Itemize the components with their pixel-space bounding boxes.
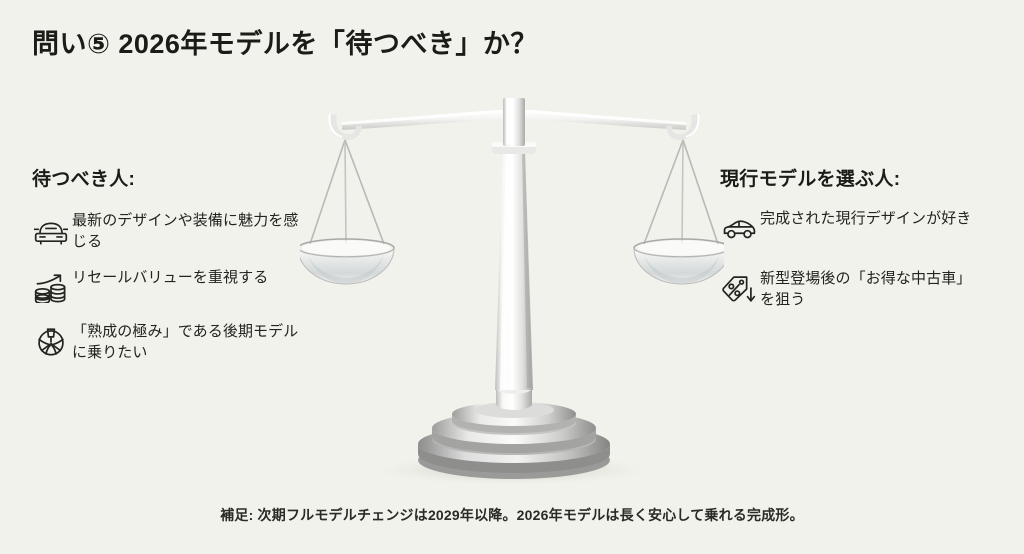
right-column-heading: 現行モデルを選ぶ人:: [720, 164, 1018, 191]
list-item-label: 新型登場後の「お得な中古車」を狙う: [760, 269, 984, 310]
scale-post: [495, 150, 533, 390]
scale-beam: [342, 98, 686, 146]
list-item: 新型登場後の「お得な中古車」を狙う: [718, 269, 1018, 310]
car-front-icon: [30, 213, 72, 249]
list-item-label: 最新のデザインや装備に魅力を感じる: [72, 211, 300, 252]
list-item: 完成された現行デザインが好き: [718, 209, 1018, 247]
list-item-label: 「熟成の極み」である後期モデルに乗りたい: [72, 322, 300, 363]
slide-canvas: 問い⑤ 2026年モデルを「待つべき」か？: [0, 0, 1024, 554]
list-item: 「熟成の極み」である後期モデルに乗りたい: [30, 322, 330, 363]
discount-tag-icon: [718, 271, 760, 307]
list-item-label: 完成された現行デザインが好き: [760, 209, 971, 230]
scale-right-arm: [634, 114, 724, 284]
list-item: リセールバリューを重視する: [30, 268, 330, 306]
car-side-icon: [718, 211, 760, 247]
right-column: 現行モデルを選ぶ人: 完成された現行デザインが好き: [718, 164, 1018, 332]
balance-scale-illustration: [300, 98, 724, 488]
footnote: 補足: 次期フルモデルチェンジは2029年以降。2026年モデルは長く安心して乗…: [0, 505, 1024, 525]
list-item-label: リセールバリューを重視する: [72, 268, 268, 289]
alloy-wheel-icon: [30, 324, 72, 360]
coins-growth-icon: [30, 270, 72, 306]
left-column-heading: 待つべき人:: [32, 164, 330, 191]
left-column: 待つべき人: 最新のデザインや装備に魅力を感じる: [30, 164, 330, 380]
scale-base: [418, 382, 610, 479]
list-item: 最新のデザインや装備に魅力を感じる: [30, 211, 330, 252]
page-title: 問い⑤ 2026年モデルを「待つべき」か？: [32, 22, 538, 61]
